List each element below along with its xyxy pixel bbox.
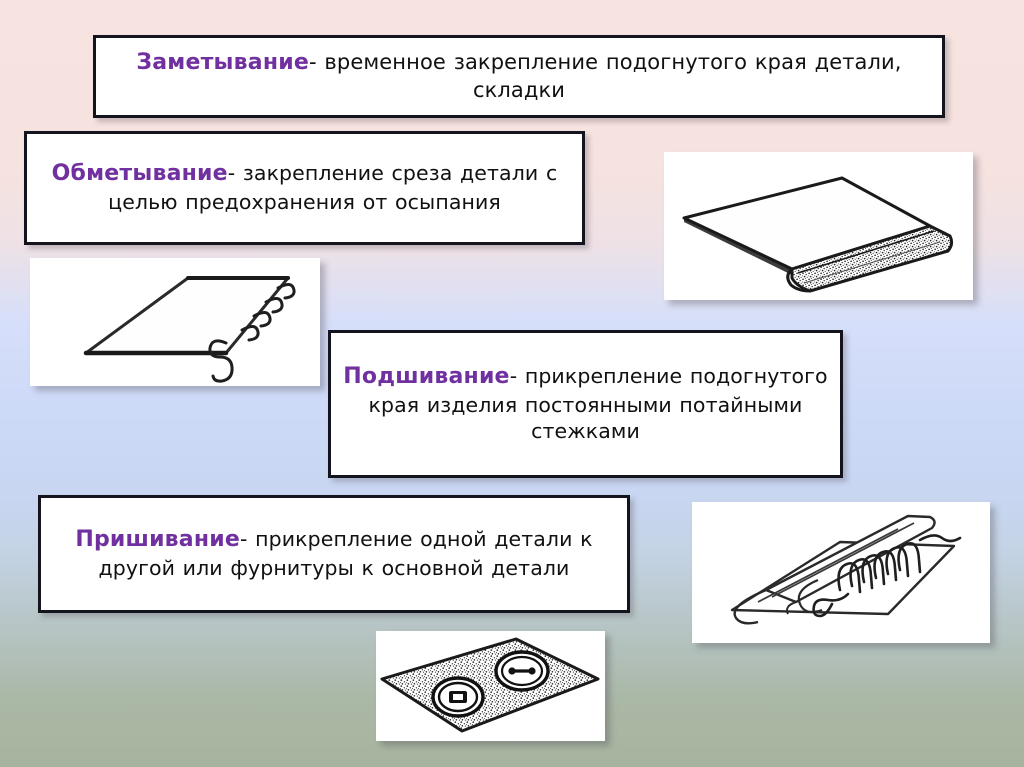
illustration-card-hem-stitch xyxy=(692,502,990,643)
overcast-stitch-icon xyxy=(30,258,320,386)
sewn-buttons-icon xyxy=(376,631,605,741)
definition-description-zametyvanie: временное закрепление подогнутого края д… xyxy=(324,50,901,103)
illustration-card-overcast-edge xyxy=(664,152,973,300)
term-obmetyvanie: Обметывание xyxy=(52,161,228,186)
definition-box-podshivanie: Подшивание- прикрепление подогнутого кра… xyxy=(328,330,843,478)
fabric-with-rolled-overcast-edge-icon xyxy=(664,152,973,300)
button-shank xyxy=(433,678,483,716)
illustration-card-buttons xyxy=(376,631,605,741)
term-dash-zametyvanie: - xyxy=(309,50,324,74)
term-dash-podshivanie: - xyxy=(510,364,525,388)
term-podshivanie: Подшивание xyxy=(343,364,509,389)
definition-box-obmetyvanie: Обметывание- закрепление среза детали с … xyxy=(24,131,585,245)
hem-blind-stitch-icon xyxy=(692,502,990,643)
term-prishivanie: Пришивание xyxy=(75,527,240,552)
slide-canvas: Заметывание- временное закрепление подог… xyxy=(0,0,1024,767)
definition-box-zametyvanie: Заметывание- временное закрепление подог… xyxy=(93,35,945,118)
definition-text-obmetyvanie: Обметывание- закрепление среза детали с … xyxy=(37,160,572,215)
illustration-card-overcast-stitch xyxy=(30,258,320,386)
term-dash-prishivanie: - xyxy=(240,527,255,551)
button-four-hole xyxy=(496,652,548,690)
definition-text-zametyvanie: Заметывание- временное закрепление подог… xyxy=(106,49,932,105)
term-dash-obmetyvanie: - xyxy=(228,161,243,185)
definition-text-podshivanie: Подшивание- прикрепление подогнутого кра… xyxy=(341,363,830,445)
term-zametyvanie: Заметывание xyxy=(136,50,309,75)
definition-box-prishivanie: Пришивание- прикрепление одной детали к … xyxy=(38,495,630,613)
definition-text-prishivanie: Пришивание- прикрепление одной детали к … xyxy=(51,526,617,581)
